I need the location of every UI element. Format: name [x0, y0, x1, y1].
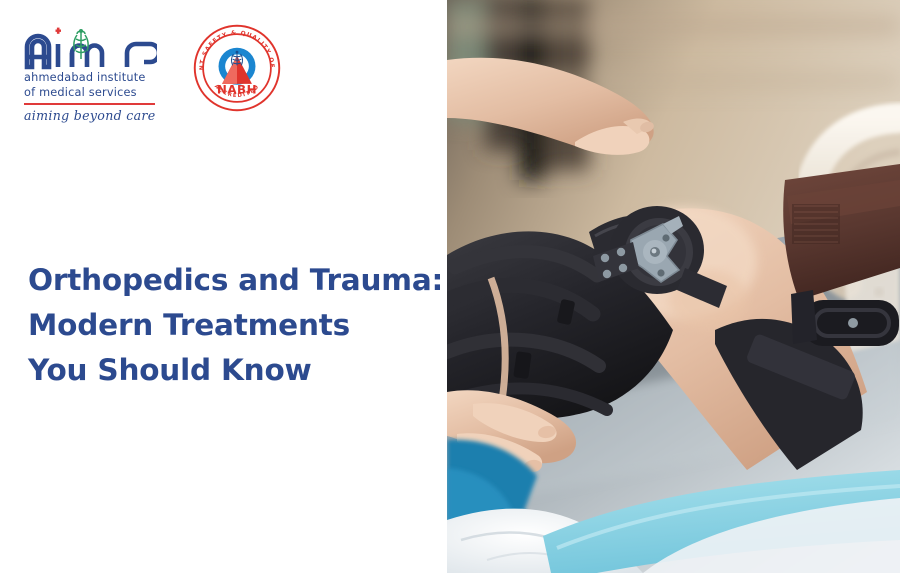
- nabh-center-text: NABH: [217, 83, 257, 97]
- aims-subtitle-line-1: ahmedabad institute: [24, 71, 157, 85]
- headline-line-3: You Should Know: [28, 348, 443, 393]
- headline-line-2: Modern Treatments: [28, 303, 443, 348]
- aims-subtitle-line-2: of medical services: [24, 86, 157, 100]
- aims-tagline: aiming beyond care: [24, 108, 157, 123]
- aims-wordmark-graphic: [24, 22, 157, 70]
- aims-divider-rule: [24, 103, 155, 105]
- article-banner: ahmedabad institute of medical services …: [0, 0, 900, 573]
- page-title: Orthopedics and Trauma: Modern Treatment…: [28, 258, 443, 393]
- nabh-accreditation-seal[interactable]: PATIENT SAFETY & QUALITY OF CARE ACCREDI…: [193, 24, 281, 112]
- aims-logo[interactable]: ahmedabad institute of medical services …: [24, 22, 157, 123]
- logo-row: ahmedabad institute of medical services …: [24, 22, 281, 123]
- headline-line-1: Orthopedics and Trauma:: [28, 258, 443, 303]
- content-panel: ahmedabad institute of medical services …: [0, 0, 447, 573]
- knee-brace-photo: [447, 0, 900, 573]
